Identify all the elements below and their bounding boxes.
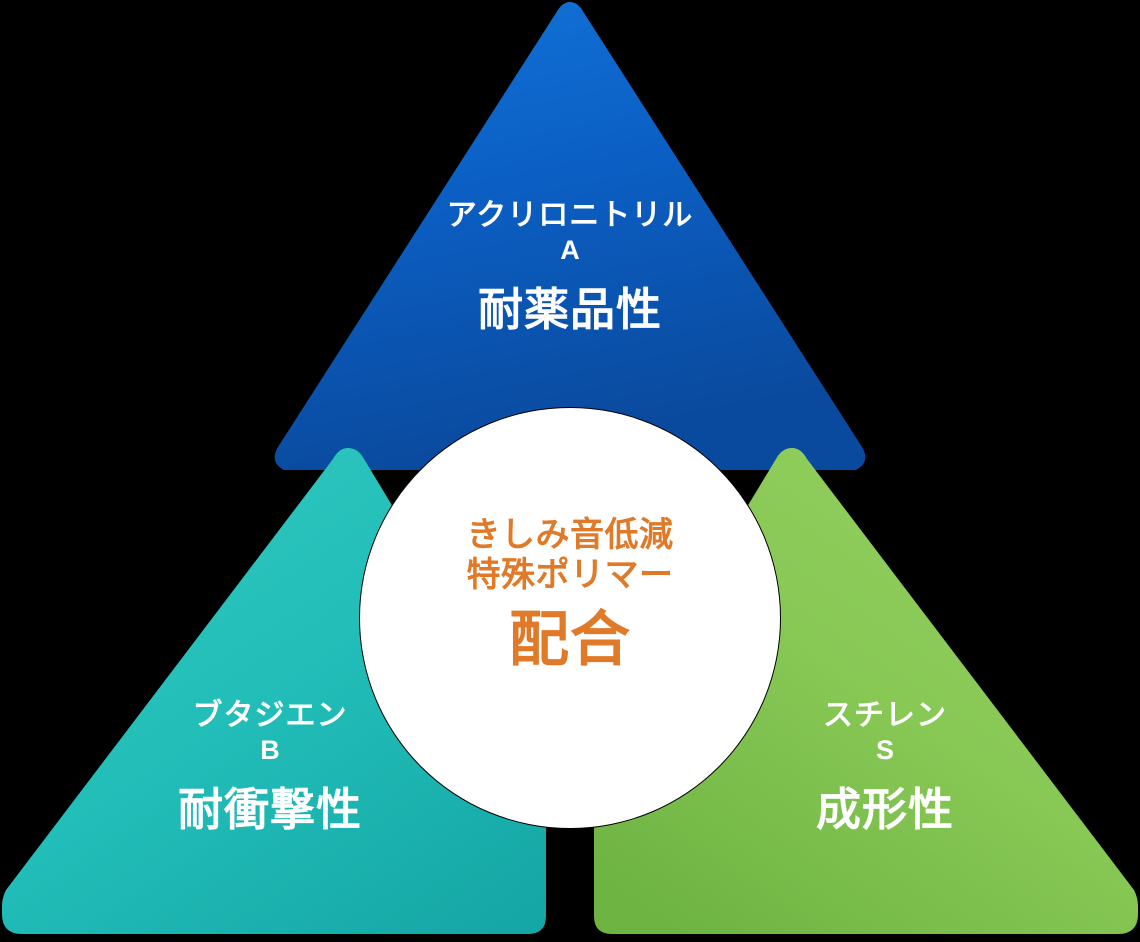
center-circle[interactable] — [360, 408, 780, 828]
diagram-canvas: アクリロニトリル A 耐薬品性 ブタジエン B 耐衝撃性 スチレン S 成形性 … — [0, 0, 1140, 942]
triangle-shapes-layer — [0, 0, 1140, 942]
segment-shape-acrylonitrile[interactable] — [275, 2, 866, 470]
